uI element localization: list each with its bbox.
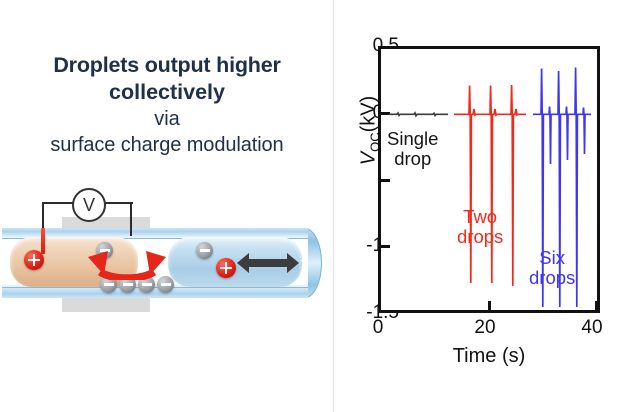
- headline-line-1: Droplets output higher: [0, 52, 334, 79]
- droplet-tube-schematic: V: [0, 186, 334, 326]
- motion-double-arrow-icon: [237, 252, 299, 274]
- red-electrode: [41, 228, 45, 254]
- voltmeter-wire-right-vertical: [130, 202, 132, 236]
- voc-time-chart: 0.5 0.0 -1.0 -1.5 VOC(kV): [336, 0, 624, 412]
- charge-transfer-arrow-icon: [86, 246, 168, 280]
- series-two-drops: [454, 85, 526, 286]
- x-axis-label: Time (s): [378, 345, 600, 368]
- annotation-line: Six: [529, 248, 575, 268]
- headline-subline: surface charge modulation: [0, 132, 334, 158]
- voltmeter-wire-left-horizontal: [42, 202, 74, 204]
- headline-connector: via: [0, 106, 334, 132]
- negative-charge-icon: [196, 242, 213, 259]
- voltmeter-icon: V: [72, 188, 106, 222]
- annotation-six-drops: Six drops: [529, 248, 575, 288]
- y-axis-unit: (kV): [358, 96, 380, 133]
- headline-line-2: collectively: [0, 79, 334, 106]
- annotation-single-drop: Single drop: [387, 129, 438, 169]
- plot-area: Single drop Two drops Six drops: [378, 46, 600, 313]
- tube-inner-line-bottom: [2, 287, 308, 288]
- x-tick-label: 20: [465, 318, 505, 337]
- x-tick-label: 0: [358, 318, 398, 337]
- series-single-drop: [389, 113, 448, 116]
- positive-charge-icon: [216, 258, 236, 278]
- annotation-line: drops: [529, 268, 575, 288]
- left-headline-block: Droplets output higher collectively via …: [0, 52, 334, 158]
- annotation-line: Two: [457, 207, 503, 227]
- graphical-abstract: Droplets output higher collectively via …: [0, 0, 624, 412]
- annotation-line: drops: [457, 227, 503, 247]
- x-tick-label: 40: [572, 318, 612, 337]
- y-axis-symbol: V: [358, 152, 380, 165]
- annotation-line: drop: [387, 149, 438, 169]
- voltmeter-label: V: [83, 196, 95, 214]
- annotation-two-drops: Two drops: [457, 207, 503, 247]
- annotation-line: Single: [387, 129, 438, 149]
